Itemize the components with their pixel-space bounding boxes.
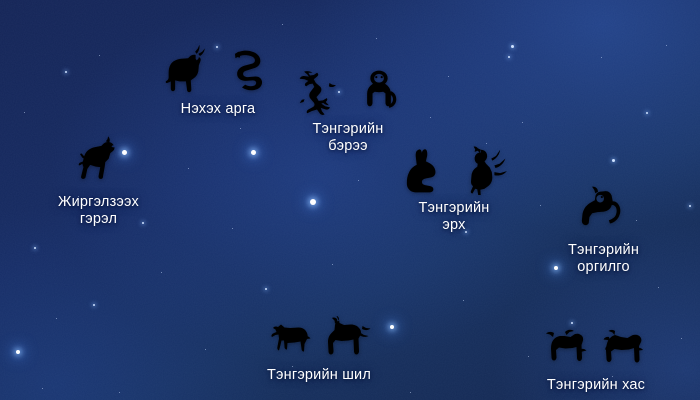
night-sky-scene: Жиргэлзээх гэрэлНэхэх аргаТэнгэрийн бэрэ… — [0, 0, 700, 400]
star — [689, 205, 691, 207]
zodiac-icons — [265, 312, 373, 362]
star — [601, 57, 602, 58]
star — [282, 24, 283, 25]
zodiac-group-tengeriin-erkh[interactable]: Тэнгэрийн эрх — [398, 143, 510, 234]
star — [188, 168, 189, 169]
star — [522, 122, 523, 123]
star — [511, 45, 514, 48]
star — [540, 205, 541, 206]
star — [240, 128, 241, 129]
star — [310, 199, 316, 205]
zodiac-label: Тэнгэрийн оргилго — [568, 242, 639, 276]
zodiac-label: Тэнгэрийн шил — [267, 367, 371, 384]
zodiac-group-jirgelzeeh-gerel[interactable]: Жиргэлзээх гэрэл — [58, 133, 139, 228]
ox-icon[interactable] — [542, 322, 592, 372]
star — [410, 392, 411, 393]
dog-icon[interactable] — [323, 312, 373, 362]
zodiac-group-tengeriin-khas[interactable]: Тэнгэрийн хас — [542, 322, 650, 394]
zodiac-icons — [577, 183, 631, 237]
zodiac-group-tengeriin-beree[interactable]: Тэнгэрийн бэрээ — [290, 62, 406, 155]
zodiac-label: Тэнгэрийн хас — [547, 377, 645, 394]
star — [56, 318, 57, 319]
snake-icon[interactable] — [222, 42, 276, 96]
star — [34, 247, 36, 249]
star — [666, 45, 667, 46]
zodiac-group-tengeriin-shil[interactable]: Тэнгэрийн шил — [265, 312, 373, 384]
zodiac-label: Жиргэлзээх гэрэл — [58, 194, 139, 228]
star — [42, 388, 43, 389]
star — [65, 71, 67, 73]
star — [119, 392, 120, 393]
star — [251, 150, 256, 155]
star — [16, 350, 20, 354]
star — [646, 112, 648, 114]
monkey-icon[interactable] — [352, 62, 406, 116]
star — [142, 222, 144, 224]
star — [681, 338, 682, 339]
star — [99, 55, 100, 56]
star — [376, 38, 377, 39]
star — [658, 287, 659, 288]
zodiac-icons — [542, 322, 650, 372]
star — [554, 266, 558, 270]
boar-icon[interactable] — [600, 322, 650, 372]
zodiac-icons — [160, 42, 276, 96]
star — [332, 264, 333, 265]
star — [93, 304, 95, 306]
zodiac-label: Тэнгэрийн эрх — [418, 200, 489, 234]
star — [265, 288, 267, 290]
star — [358, 180, 359, 181]
rabbit-icon[interactable] — [398, 143, 450, 195]
goat-icon[interactable] — [160, 42, 214, 96]
star — [390, 325, 394, 329]
star — [430, 117, 431, 118]
zodiac-icons — [70, 133, 126, 189]
horse-icon[interactable] — [70, 133, 126, 189]
zodiac-group-tengeriin-orgilgo[interactable]: Тэнгэрийн оргилго — [568, 183, 639, 276]
zodiac-group-nehekh-arga[interactable]: Нэхэх арга — [160, 42, 276, 118]
mouse-icon[interactable] — [577, 183, 631, 237]
star — [161, 272, 162, 273]
star — [232, 228, 233, 229]
star — [612, 159, 615, 162]
dragon-icon[interactable] — [290, 62, 344, 116]
zodiac-label: Тэнгэрийн бэрээ — [312, 121, 383, 155]
star — [24, 112, 25, 113]
star — [463, 300, 464, 301]
star — [528, 356, 529, 357]
zodiac-icons — [290, 62, 406, 116]
zodiac-label: Нэхэх арга — [181, 101, 256, 118]
rooster-icon[interactable] — [458, 143, 510, 195]
star — [508, 56, 510, 58]
star — [448, 76, 449, 77]
star — [205, 349, 206, 350]
zodiac-icons — [398, 143, 510, 195]
tiger-icon[interactable] — [265, 312, 315, 362]
